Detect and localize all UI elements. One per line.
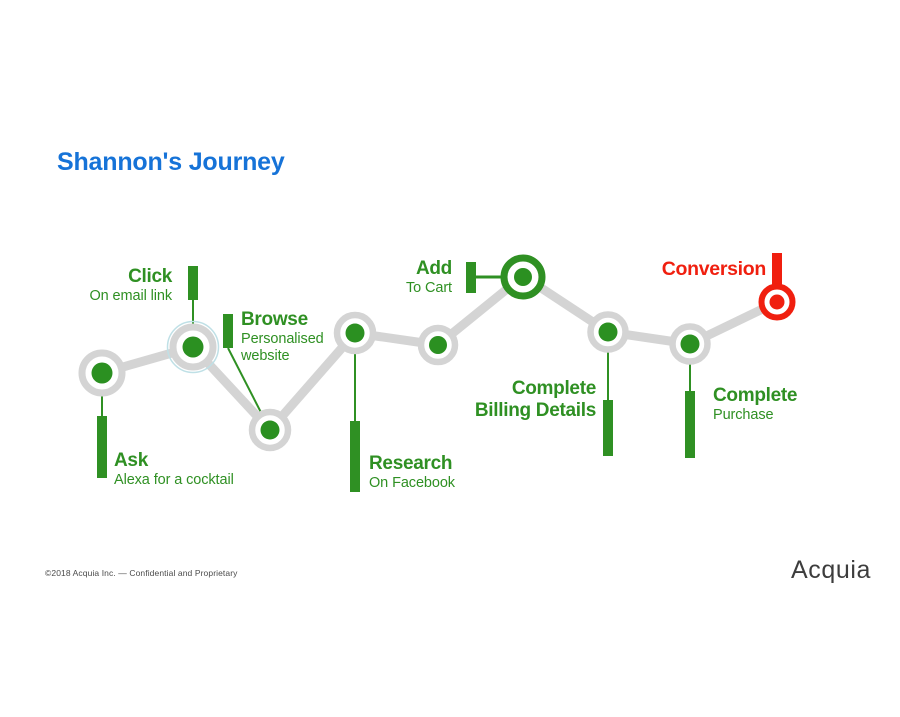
slide-root: Shannon's Journey (0, 0, 900, 717)
stage-sub-add-to-cart: To Cart (330, 280, 452, 297)
stage-sub-complete-purchase: Purchase (713, 407, 797, 424)
stage-title-complete-purchase: Complete (713, 385, 797, 407)
node-dot-complete-purchase (681, 335, 700, 354)
stage-sub-ask: Alexa for a cocktail (114, 472, 234, 489)
stage-label-complete-billing-details: Complete Billing Details (471, 378, 596, 422)
connector-bar-purchase (685, 391, 695, 458)
stage-title-browse: Browse (241, 309, 356, 331)
stage-sub-research: On Facebook (369, 475, 455, 492)
stage-label-complete-purchase: Complete Purchase (713, 385, 797, 424)
node-dot-add-to-cart (514, 268, 532, 286)
footer-copyright: ©2018 Acquia Inc. — Confidential and Pro… (45, 568, 238, 578)
node-dot-browse (261, 421, 280, 440)
stage-label-ask: Ask Alexa for a cocktail (114, 450, 234, 489)
journey-node-unlabeled-step[interactable] (421, 328, 455, 362)
journey-node-click[interactable] (168, 322, 219, 373)
node-dot-unlabeled-step (429, 336, 447, 354)
stage-label-research: Research On Facebook (369, 453, 455, 492)
journey-node-add-to-cart[interactable] (504, 258, 542, 296)
stage-title-ask: Ask (114, 450, 234, 472)
connector-bar-ask (97, 416, 107, 478)
connector-bar-conversion (772, 253, 782, 286)
connector-bar-browse (223, 314, 233, 348)
journey-node-complete-billing-details[interactable] (591, 315, 626, 350)
slide-canvas: Shannon's Journey (0, 0, 900, 717)
journey-node-conversion[interactable] (762, 287, 793, 318)
stage-title-complete-billing-details: Complete Billing Details (471, 378, 596, 422)
journey-node-complete-purchase[interactable] (673, 327, 708, 362)
stage-sub-browse: Personalised website (241, 331, 356, 365)
stage-title-click: Click (0, 266, 172, 288)
stage-label-conversion: Conversion (610, 258, 766, 281)
connector-bar-click (188, 266, 198, 300)
node-dot-ask (92, 363, 113, 384)
stage-title-add-to-cart: Add (330, 258, 452, 280)
stage-sub-click: On email link (0, 288, 172, 305)
connector-bar-billing (603, 400, 613, 456)
stage-label-click: Click On email link (0, 266, 172, 305)
journey-node-browse[interactable] (252, 412, 288, 448)
node-dot-complete-billing-details (599, 323, 618, 342)
node-dot-click (183, 337, 204, 358)
stage-title-conversion: Conversion (610, 258, 766, 281)
stage-label-browse: Browse Personalised website (241, 309, 356, 365)
stage-title-research: Research (369, 453, 455, 475)
connector-bar-add-to-cart (466, 262, 476, 293)
stage-label-add-to-cart: Add To Cart (330, 258, 452, 297)
journey-diagram (0, 0, 900, 717)
connector-bar-research (350, 421, 360, 492)
acquia-logo: Acquia (791, 556, 871, 585)
node-dot-conversion (770, 295, 785, 310)
journey-node-ask[interactable] (82, 353, 122, 393)
